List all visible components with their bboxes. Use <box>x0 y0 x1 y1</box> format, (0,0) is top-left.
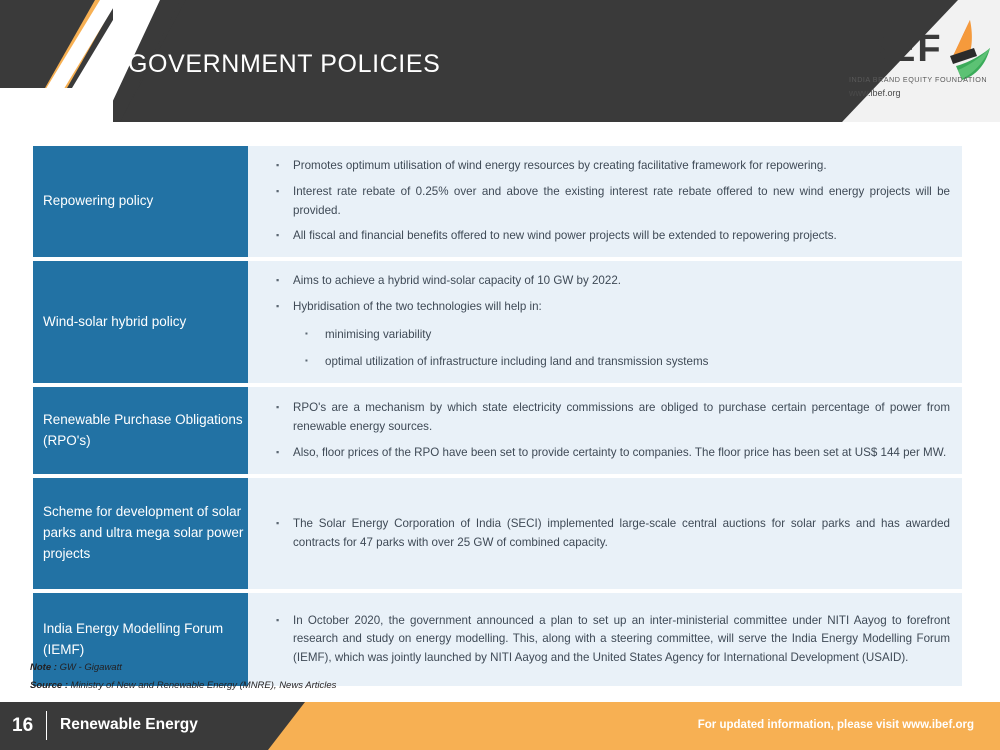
slide: GOVERNMENT POLICIES IBEF INDIA BRAND EQU… <box>0 0 1000 750</box>
sub-list-item-text: minimising variability <box>325 326 950 345</box>
note-label: Note : <box>30 662 60 673</box>
page-title: GOVERNMENT POLICIES <box>128 50 440 79</box>
list-item-text: Also, floor prices of the RPO have been … <box>293 444 950 463</box>
bullet-marker: ▪ <box>276 298 293 316</box>
list-item: ▪ Interest rate rebate of 0.25% over and… <box>248 183 950 221</box>
policy-name-cell: Repowering policy <box>33 146 248 257</box>
policy-name-cell: Wind-solar hybrid policy <box>33 261 248 383</box>
list-item: ▪ Promotes optimum utilisation of wind e… <box>248 157 950 176</box>
list-item-text: Aims to achieve a hybrid wind-solar capa… <box>293 272 950 291</box>
footer-divider <box>46 711 47 740</box>
list-item-text: The Solar Energy Corporation of India (S… <box>293 515 950 553</box>
list-item: ▪ Also, floor prices of the RPO have bee… <box>248 444 950 463</box>
source-text: Ministry of New and Renewable Energy (MN… <box>71 680 337 691</box>
footer-update-text: For updated information, please visit ww… <box>698 719 974 731</box>
list-item-text: In October 2020, the government announce… <box>293 612 950 668</box>
slide-header: GOVERNMENT POLICIES IBEF INDIA BRAND EQU… <box>0 0 1000 130</box>
bullet-marker: ▪ <box>305 353 325 369</box>
source-line: Source : Ministry of New and Renewable E… <box>30 677 336 695</box>
policy-name-cell: Renewable Purchase Obligations (RPO's) <box>33 387 248 474</box>
list-item-text: Interest rate rebate of 0.25% over and a… <box>293 183 950 221</box>
bullet-marker: ▪ <box>305 326 325 342</box>
bullet-marker: ▪ <box>276 227 293 245</box>
sub-list-item: ▪ minimising variability <box>248 326 950 345</box>
ibef-wordmark: IBEF <box>848 30 943 68</box>
list-item-text: Hybridisation of the two technologies wi… <box>293 298 950 317</box>
bullet-marker: ▪ <box>276 183 293 201</box>
policy-details-cell: ▪ In October 2020, the government announ… <box>248 593 962 686</box>
list-item-text: RPO's are a mechanism by which state ele… <box>293 399 950 437</box>
bullet-marker: ▪ <box>276 612 293 630</box>
page-number: 16 <box>12 715 33 737</box>
note-line: Note : GW - Gigawatt <box>30 659 336 677</box>
list-item: ▪ The Solar Energy Corporation of India … <box>248 515 950 553</box>
policy-details-cell: ▪ The Solar Energy Corporation of India … <box>248 478 962 589</box>
table-row: Wind-solar hybrid policy ▪ Aims to achie… <box>33 261 962 383</box>
sub-list-item: ▪ optimal utilization of infrastructure … <box>248 353 950 372</box>
slide-footer: 16 Renewable Energy For updated informat… <box>0 702 1000 750</box>
list-item: ▪ All fiscal and financial benefits offe… <box>248 227 950 246</box>
list-item: ▪ Aims to achieve a hybrid wind-solar ca… <box>248 272 950 291</box>
policies-table: Repowering policy ▪ Promotes optimum uti… <box>33 146 962 686</box>
list-item-text: Promotes optimum utilisation of wind ene… <box>293 157 950 176</box>
bullet-marker: ▪ <box>276 444 293 462</box>
ibef-url: www.ibef.org <box>849 88 901 98</box>
table-row: Renewable Purchase Obligations (RPO's) ▪… <box>33 387 962 474</box>
bullet-marker: ▪ <box>276 157 293 175</box>
policy-details-cell: ▪ Promotes optimum utilisation of wind e… <box>248 146 962 257</box>
sub-list-item-text: optimal utilization of infrastructure in… <box>325 353 950 372</box>
ibef-logo: IBEF INDIA BRAND EQUITY FOUNDATION www.i… <box>848 30 1000 115</box>
bullet-marker: ▪ <box>276 272 293 290</box>
bullet-marker: ▪ <box>276 399 293 417</box>
list-item: ▪ In October 2020, the government announ… <box>248 612 950 668</box>
list-item: ▪ RPO's are a mechanism by which state e… <box>248 399 950 437</box>
policy-name-cell: Scheme for development of solar parks an… <box>33 478 248 589</box>
ibef-tagline: INDIA BRAND EQUITY FOUNDATION <box>849 75 987 84</box>
table-row: Scheme for development of solar parks an… <box>33 478 962 589</box>
table-row: Repowering policy ▪ Promotes optimum uti… <box>33 146 962 257</box>
source-label: Source : <box>30 680 71 691</box>
list-item-text: All fiscal and financial benefits offere… <box>293 227 950 246</box>
policy-details-cell: ▪ Aims to achieve a hybrid wind-solar ca… <box>248 261 962 383</box>
bullet-marker: ▪ <box>276 515 293 533</box>
footnotes: Note : GW - Gigawatt Source : Ministry o… <box>30 659 336 694</box>
list-item: ▪ Hybridisation of the two technologies … <box>248 298 950 317</box>
note-text: GW - Gigawatt <box>60 662 122 673</box>
section-title: Renewable Energy <box>60 716 198 734</box>
policy-details-cell: ▪ RPO's are a mechanism by which state e… <box>248 387 962 474</box>
